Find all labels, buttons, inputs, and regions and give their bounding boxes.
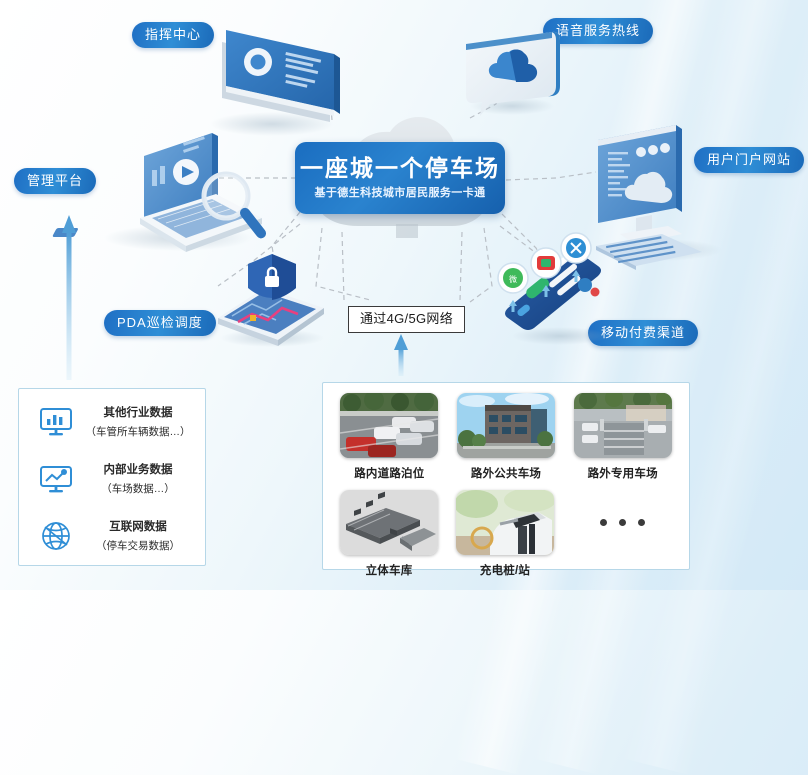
data-source-detail: （车场数据…）: [101, 483, 175, 495]
scene-caption: 路内道路泊位: [354, 465, 424, 481]
banner-subtitle: 基于德生科技城市居民服务一卡通: [315, 188, 486, 199]
desktop-monitor-cloud-icon: [596, 125, 722, 270]
ellipsis-indicator: [566, 490, 678, 555]
scenes-row-2: 立体车库: [331, 490, 681, 578]
ev-charging-station-photo: [456, 490, 554, 555]
scene-caption: 路外专用车场: [588, 465, 658, 481]
banner-title: 一座城一个停车场: [300, 158, 500, 181]
network-label-box: 通过4G/5G网络: [348, 306, 465, 333]
data-sources-panel: 其他行业数据 （车管所车辆数据…） 内部业务数据 （车场数据…）: [18, 388, 206, 566]
scene-card[interactable]: 立体车库: [334, 490, 444, 578]
data-source-row[interactable]: 互联网数据 （停车交易数据）: [19, 507, 205, 564]
dedicated-offstreet-lot-photo: [574, 393, 672, 458]
wechat-pay-icon: 微: [498, 263, 528, 293]
data-source-row[interactable]: 其他行业数据 （车管所车辆数据…）: [19, 393, 205, 450]
network-uplink-arrow: [394, 334, 408, 376]
data-source-detail: （停车交易数据）: [96, 540, 180, 552]
dot: [619, 519, 626, 526]
scenes-row-1: 路内道路泊位: [331, 393, 681, 481]
svg-text:微: 微: [509, 274, 517, 284]
union-pay-icon: [561, 233, 591, 263]
scene-card[interactable]: 路外专用车场: [567, 393, 678, 481]
cloud-speech-bubble-icon: [466, 32, 560, 116]
dot: [600, 519, 607, 526]
scene-card[interactable]: 路外公共车场: [451, 393, 562, 481]
parking-scenes-panel: 路内道路泊位: [322, 382, 690, 570]
data-source-title: 其他行业数据: [104, 407, 173, 419]
tablet-map-shield-lock-icon: [218, 254, 324, 347]
alipay-icon: [531, 248, 561, 278]
data-source-row[interactable]: 内部业务数据 （车场数据…）: [19, 450, 205, 507]
laptop-with-magnifier-icon: [52, 133, 268, 252]
scene-caption: 立体车库: [366, 562, 413, 578]
globe-icon: [33, 520, 79, 552]
multi-level-garage-photo: [340, 490, 438, 555]
scene-caption: 充电桩/站: [480, 562, 530, 578]
data-source-title: 内部业务数据: [104, 464, 173, 476]
public-offstreet-lot-photo: [457, 393, 555, 458]
dot: [638, 519, 645, 526]
line-chart-monitor-icon: [33, 464, 79, 494]
scene-more-cell: [566, 490, 678, 578]
scene-card[interactable]: 充电桩/站: [450, 490, 560, 578]
bar-chart-monitor-icon: [33, 407, 79, 437]
main-banner: 一座城一个停车场 基于德生科技城市居民服务一卡通: [295, 142, 505, 214]
on-street-parking-photo: [340, 393, 438, 458]
data-source-title: 互联网数据: [109, 521, 167, 533]
data-source-detail: （车管所车辆数据…）: [86, 426, 191, 438]
data-to-platform-arrow: [62, 215, 76, 380]
scene-card[interactable]: 路内道路泊位: [334, 393, 445, 481]
scene-caption: 路外公共车场: [471, 465, 541, 481]
diagram-stage: 微: [0, 0, 808, 590]
